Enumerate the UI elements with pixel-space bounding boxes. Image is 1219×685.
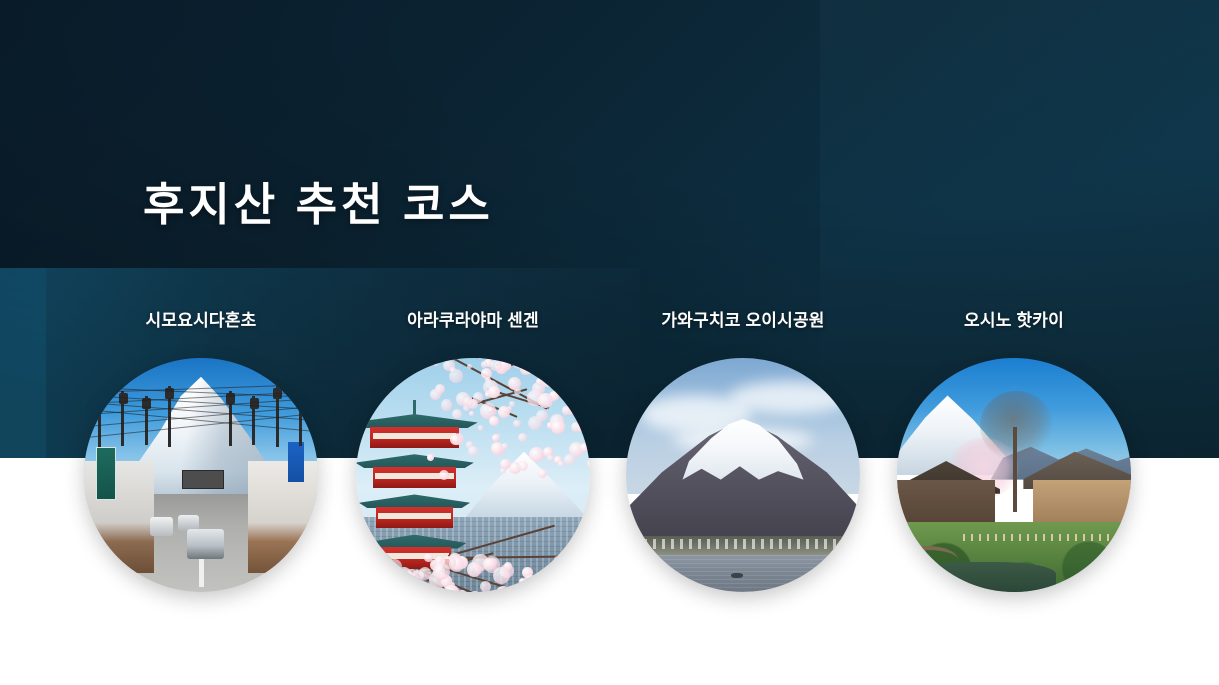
cherry-blossom	[502, 443, 508, 449]
cloud-right	[729, 381, 851, 414]
cherry-blossom	[424, 553, 432, 561]
lake-ripples	[626, 555, 860, 592]
oshino-hakkai-photo	[897, 358, 1131, 592]
cherry-blossom	[518, 433, 528, 443]
cherry-blossom	[481, 361, 487, 367]
cherry-blossom	[536, 410, 547, 421]
wooden-fence	[963, 534, 1117, 541]
cherry-blossom	[571, 377, 583, 389]
course-label-2: 아라쿠라야마 센겐	[343, 306, 603, 331]
course-item-4[interactable]: 오시노 핫카이	[884, 306, 1144, 331]
cherry-blossom	[362, 555, 372, 565]
course-item-3[interactable]: 가와구치코 오이시공원	[613, 306, 873, 331]
cherry-blossom	[478, 425, 483, 430]
cherry-blossom	[492, 434, 499, 441]
cherry-blossom	[551, 420, 565, 434]
cherry-blossom	[587, 459, 590, 469]
course-item-2[interactable]: 아라쿠라야마 센겐	[343, 306, 603, 331]
cherry-blossom	[577, 423, 585, 431]
course-label-4: 오시노 핫카이	[884, 306, 1144, 331]
cherry-blossom	[490, 360, 502, 372]
cherry-blossom	[441, 399, 453, 411]
pagoda-balcony-tier-3	[378, 513, 451, 519]
cherry-blossom	[473, 392, 484, 403]
cherry-blossom	[498, 406, 510, 418]
cherry-blossom	[469, 411, 475, 417]
cherry-blossom	[444, 585, 458, 592]
cherry-blossom	[570, 404, 580, 414]
car-far	[150, 517, 173, 536]
kawaguchiko-oishi-park-photo	[626, 358, 860, 592]
street-lamp	[250, 398, 259, 409]
cherry-blossom	[500, 459, 511, 470]
course-photo-3[interactable]	[626, 358, 860, 592]
cherry-blossom	[450, 367, 456, 373]
car-near	[187, 529, 224, 559]
cherry-blossom	[584, 396, 590, 411]
course-label-1: 시모요시다혼초	[71, 306, 331, 331]
cherry-blossom	[467, 562, 482, 577]
cherry-blossom	[452, 409, 462, 419]
course-item-1[interactable]: 시모요시다혼초	[71, 306, 331, 331]
cherry-blossom-branch	[426, 358, 590, 484]
cherry-blossom	[550, 571, 561, 582]
cherry-blossom	[406, 569, 417, 580]
cherry-blossom	[520, 364, 531, 375]
presentation-slide: 후지산 추천 코스 시모요시다혼초 아라쿠라야마	[0, 0, 1219, 685]
cherry-blossom	[427, 454, 434, 461]
pagoda-spire	[413, 400, 416, 417]
cherry-blossom	[509, 401, 515, 407]
lakeside-town	[626, 539, 860, 548]
course-photo-1[interactable]	[84, 358, 318, 592]
cherry-blossom	[523, 575, 539, 591]
hero-teal-edge-strip	[0, 268, 46, 458]
cherry-blossom	[493, 567, 511, 585]
cherry-blossom	[450, 434, 462, 446]
cherry-blossom	[433, 563, 450, 580]
cherry-blossom	[569, 569, 586, 586]
page-title: 후지산 추천 코스	[143, 178, 494, 231]
cherry-blossom	[580, 443, 589, 452]
cherry-blossom	[488, 386, 500, 398]
cherry-blossom	[477, 358, 484, 359]
cherry-blossom	[468, 446, 478, 456]
arched-bridge	[897, 546, 958, 573]
cherry-blossom	[518, 461, 528, 471]
cherry-blossom	[563, 585, 574, 592]
shimoyoshida-honcho-photo	[84, 358, 318, 592]
cherry-blossom-foreground	[356, 552, 590, 592]
cherry-blossom	[547, 455, 553, 461]
cherry-blossom	[538, 469, 548, 479]
cherry-blossom	[538, 393, 553, 408]
course-photo-4[interactable]	[897, 358, 1131, 592]
chureito-pagoda-photo	[356, 358, 590, 592]
cherry-blossom	[573, 359, 579, 365]
cherry-blossom	[562, 406, 570, 414]
cherry-blossom	[439, 470, 449, 480]
cherry-blossom	[564, 454, 575, 465]
cherry-blossom	[463, 397, 472, 406]
cherry-blossom	[435, 384, 445, 394]
cherry-blossom	[583, 360, 590, 371]
cherry-blossom	[375, 570, 388, 583]
course-photo-2[interactable]	[356, 358, 590, 592]
cherry-blossom	[529, 447, 544, 462]
overhead-wires	[84, 381, 318, 486]
cherry-blossom	[489, 416, 499, 426]
tree-trunk	[1013, 427, 1017, 512]
cherry-blossom	[571, 553, 580, 562]
cherry-blossom	[483, 558, 496, 571]
cherry-blossom	[541, 374, 555, 388]
cherry-blossom	[534, 591, 542, 592]
cherry-blossom	[409, 584, 418, 592]
cherry-blossom	[468, 591, 482, 592]
cherry-blossom	[488, 407, 494, 413]
cherry-blossom	[480, 591, 491, 592]
cherry-blossom	[513, 420, 521, 428]
course-label-3: 가와구치코 오이시공원	[613, 306, 873, 331]
cherry-blossom	[554, 556, 561, 563]
cherry-blossom	[419, 567, 431, 579]
